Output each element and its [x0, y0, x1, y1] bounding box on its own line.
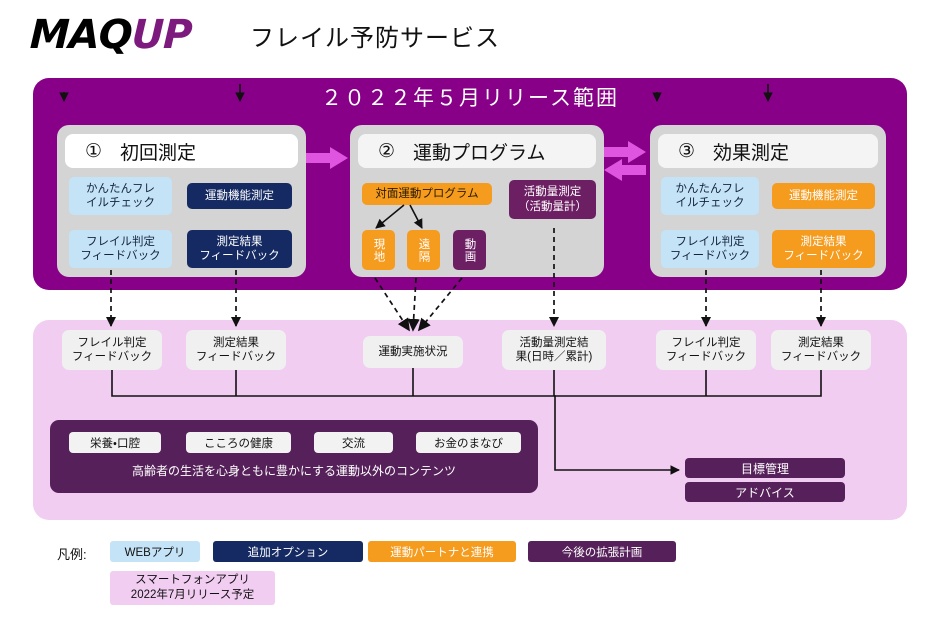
node-label: 運動機能測定: [205, 189, 274, 203]
legend-chip-additional-option: 追加オプション: [213, 541, 363, 562]
phase-1-number: ①: [85, 140, 102, 163]
band-node-frail-feedback-3[interactable]: フレイル判定 フィードバック: [656, 330, 756, 370]
bar-goal-management[interactable]: 目標管理: [685, 458, 845, 478]
content-panel-caption: 高齢者の生活を心身ともに豊かにする運動以外のコンテンツ: [50, 462, 538, 479]
node-line-2: フィードバック: [199, 249, 279, 263]
node-label: 対面運動プログラム: [375, 187, 478, 201]
node-test-result-feedback-1[interactable]: 測定結果 フィードバック: [187, 230, 292, 268]
node-line-2: フィードバック: [670, 249, 750, 263]
node-line-1: 測定結果: [801, 235, 847, 249]
node-line-1: フレイル判定: [78, 336, 147, 350]
phase-3-number: ③: [678, 140, 695, 163]
pill-mental-health[interactable]: こころの健康: [186, 432, 291, 453]
band-node-exercise-status[interactable]: 運動実施状況: [363, 336, 463, 368]
node-line-1: 測定結果: [217, 235, 263, 249]
node-label: 現地: [372, 238, 384, 263]
legend-chip-smartphone-app: スマートフォンアプリ 2022年7月リリース予定: [110, 571, 275, 605]
logo-text-up: UP: [131, 12, 192, 58]
band-node-test-feedback-3[interactable]: 測定結果 フィードバック: [771, 330, 871, 370]
band-node-frail-feedback-1[interactable]: フレイル判定 フィードバック: [62, 330, 162, 370]
node-line-1: フレイル判定: [672, 336, 741, 350]
node-line-1: フレイル判定: [86, 235, 155, 249]
node-line-2: フィードバック: [72, 350, 152, 364]
phase-3-title: 効果測定: [713, 138, 789, 165]
node-facetoface-program[interactable]: 対面運動プログラム: [362, 183, 492, 205]
other-content-panel: 栄養・口腔 こころの健康 交流 お金のまなび 高齢者の生活を心身ともに豊かにする…: [50, 420, 538, 493]
node-line-2: （活動量計）: [518, 200, 587, 214]
phase-1-title: 初回測定: [120, 138, 196, 165]
node-video[interactable]: 動画: [453, 230, 486, 270]
maqup-logo: MAQUP: [29, 12, 192, 58]
node-line-2: フィードバック: [781, 350, 861, 364]
band-node-activity-result[interactable]: 活動量測定結 果(日時／累計): [502, 330, 606, 370]
node-remote[interactable]: 遠隔: [407, 230, 440, 270]
node-line-2: フィードバック: [196, 350, 276, 364]
phase-panel-1: ① 初回測定 かんたんフレ イルチェック フレイル判定 フィードバック 運動機能…: [57, 125, 306, 277]
node-line-1: 測定結果: [213, 336, 259, 350]
node-onsite[interactable]: 現地: [362, 230, 395, 270]
band-node-test-feedback-1[interactable]: 測定結果 フィードバック: [186, 330, 286, 370]
node-activity-measurement[interactable]: 活動量測定 （活動量計）: [509, 180, 596, 219]
legend-chip-exercise-partner: 運動パートナと連携: [368, 541, 516, 562]
node-label: 運動実施状況: [379, 345, 448, 359]
legend-phone-line-2: 2022年7月リリース予定: [131, 588, 254, 603]
legend-chip-web-app: WEBアプリ: [110, 541, 200, 562]
phase-panel-2: ② 運動プログラム 対面運動プログラム 現地 遠隔 動画 活動量測定 （活動量計…: [350, 125, 604, 277]
page-header: MAQUP フレイル予防サービス: [0, 0, 940, 70]
node-line-1: 活動量測定: [524, 185, 582, 199]
node-line-2: イルチェック: [676, 196, 745, 210]
legend-phone-line-1: スマートフォンアプリ: [135, 573, 250, 588]
phase-2-header: ② 運動プログラム: [358, 134, 596, 168]
node-frail-feedback-1[interactable]: フレイル判定 フィードバック: [69, 230, 172, 268]
node-exercise-function-test-3[interactable]: 運動機能測定: [772, 183, 875, 209]
node-line-1: 測定結果: [798, 336, 844, 350]
release-scope-title: ２０２２年５月リリース範囲: [33, 82, 907, 112]
node-frail-check-1[interactable]: かんたんフレ イルチェック: [69, 177, 172, 215]
node-exercise-function-test-1[interactable]: 運動機能測定: [187, 183, 292, 209]
pill-money-learning[interactable]: お金のまなび: [416, 432, 521, 453]
page-title: フレイル予防サービス: [250, 18, 500, 53]
phase-2-title: 運動プログラム: [413, 138, 545, 165]
bar-advice[interactable]: アドバイス: [685, 482, 845, 502]
node-line-1: かんたんフレ: [86, 182, 155, 196]
node-line-2: フィードバック: [80, 249, 160, 263]
node-line-2: イルチェック: [86, 196, 155, 210]
pill-exchange[interactable]: 交流: [314, 432, 393, 453]
phase-2-number: ②: [378, 140, 395, 163]
node-label: 動画: [463, 238, 475, 263]
node-test-result-feedback-3[interactable]: 測定結果 フィードバック: [772, 230, 875, 268]
legend-label: 凡例:: [57, 544, 87, 563]
node-line-1: 活動量測定結: [520, 336, 589, 350]
phase-1-header: ① 初回測定: [65, 134, 298, 168]
node-frail-feedback-3[interactable]: フレイル判定 フィードバック: [661, 230, 759, 268]
node-label: 運動機能測定: [789, 189, 858, 203]
node-line-1: フレイル判定: [676, 235, 745, 249]
phase-3-header: ③ 効果測定: [658, 134, 878, 168]
node-line-1: かんたんフレ: [676, 182, 745, 196]
node-frail-check-3[interactable]: かんたんフレ イルチェック: [661, 177, 759, 215]
pill-nutrition-oral[interactable]: 栄養・口腔: [69, 432, 161, 453]
node-line-2: 果(日時／累計): [516, 350, 593, 364]
phase-panel-3: ③ 効果測定 かんたんフレ イルチェック フレイル判定 フィードバック 運動機能…: [650, 125, 886, 277]
legend-chip-future-expansion: 今後の拡張計画: [528, 541, 676, 562]
logo-text-maq: MAQ: [29, 12, 132, 58]
node-label: 遠隔: [417, 238, 429, 263]
node-line-2: フィードバック: [666, 350, 746, 364]
node-line-2: フィードバック: [783, 249, 863, 263]
